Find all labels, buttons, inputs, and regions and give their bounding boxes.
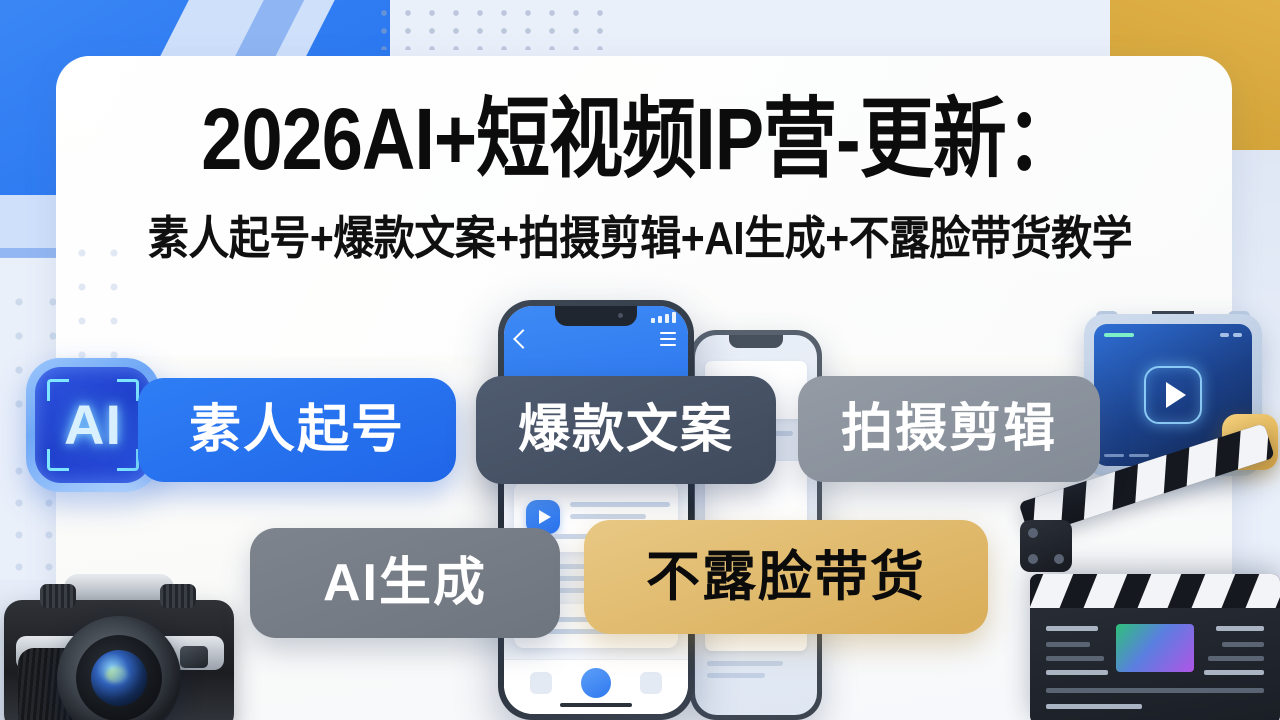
lens-flare <box>106 667 128 683</box>
phone-camera-dot <box>618 313 623 318</box>
scan-corner-icon <box>117 449 139 471</box>
tag-pill-pai-she-jian-ji: 拍摄剪辑 <box>798 376 1100 482</box>
timecode-label <box>1104 454 1149 458</box>
recording-indicator <box>1104 333 1134 337</box>
battery-indicator <box>1220 333 1242 337</box>
poster-canvas: 2026AI+短视频IP营-更新： 素人起号+爆款文案+拍摄剪辑+AI生成+不露… <box>0 0 1280 720</box>
clapper-hinge <box>1020 520 1072 572</box>
phone-line <box>707 661 783 666</box>
poster-title: 2026AI+短视频IP营-更新： <box>0 96 1280 183</box>
camera-flash <box>180 646 208 668</box>
tag-pill-ai-sheng-cheng: AI生成 <box>250 528 560 638</box>
camera-dial-right <box>160 584 196 608</box>
play-button-icon <box>1144 366 1202 424</box>
ai-badge-label: AI <box>64 397 122 453</box>
scan-corner-icon <box>47 449 69 471</box>
home-indicator <box>560 703 632 708</box>
phone-status-bars <box>651 312 676 323</box>
camera-dial-left <box>40 584 76 608</box>
clapperboard-icon <box>1008 492 1280 720</box>
tag-pill-bu-lu-lian-dai-huo: 不露脸带货 <box>584 520 988 634</box>
smartphone-front-icon <box>498 300 694 720</box>
phone-line <box>707 673 765 678</box>
dot-pattern-top <box>372 4 612 50</box>
scan-corner-icon <box>47 379 69 401</box>
tab-icon-primary <box>581 668 611 698</box>
clapper-color-panel <box>1116 624 1194 672</box>
tag-pill-su-ren-qi-hao: 素人起号 <box>138 378 456 482</box>
clapper-stripes-bottom <box>1030 574 1280 608</box>
tab-icon <box>640 672 662 694</box>
phone-notch <box>555 306 637 326</box>
dslr-camera-icon <box>0 560 244 720</box>
tag-pill-bao-kuan-wen-an: 爆款文案 <box>476 376 776 484</box>
phone-notch <box>729 335 783 348</box>
menu-icon <box>660 332 676 349</box>
tab-icon <box>530 672 552 694</box>
clapper-slate <box>1030 574 1280 720</box>
poster-subtitle: 素人起号+爆款文案+拍摄剪辑+AI生成+不露脸带货教学 <box>0 216 1280 262</box>
scan-corner-icon <box>117 379 139 401</box>
